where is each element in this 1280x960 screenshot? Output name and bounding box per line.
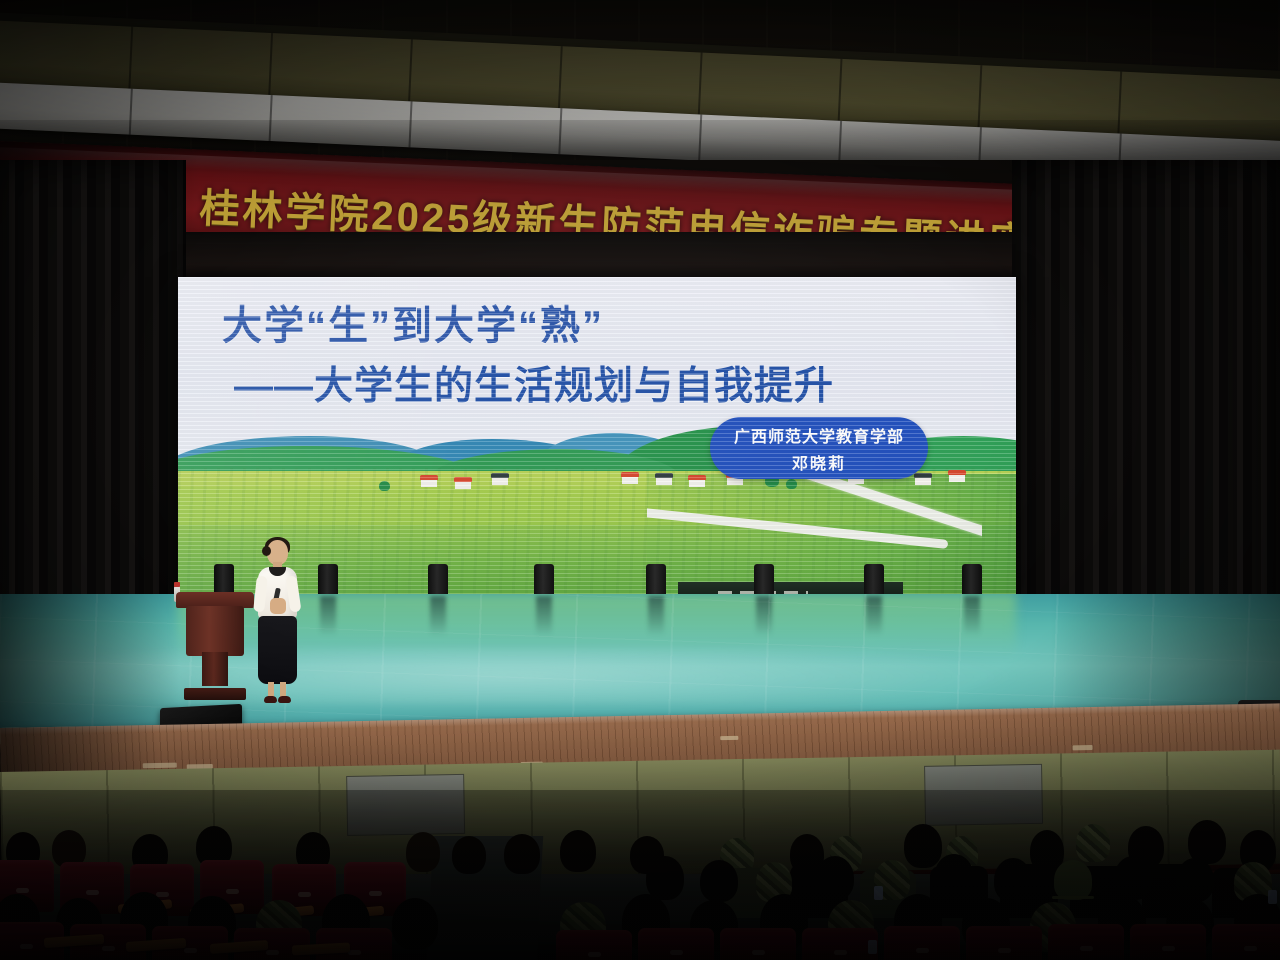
floor-left-shadow	[0, 594, 180, 744]
auditorium-seat[interactable]	[1048, 924, 1124, 960]
slide-subtitle: ——大学生的生活规划与自我提升	[234, 355, 834, 411]
auditorium-seat[interactable]	[1130, 924, 1206, 960]
audience-member	[504, 834, 540, 874]
podium	[182, 592, 248, 700]
audience-area	[0, 790, 1280, 960]
audience-member	[934, 854, 974, 900]
audience-member	[1054, 860, 1092, 900]
water-bottle-cap	[174, 582, 180, 587]
audience-member	[1076, 824, 1110, 862]
audience-member	[700, 860, 738, 902]
audience-member	[816, 856, 854, 900]
audience-member	[646, 856, 684, 900]
speaker-name: 邓晓莉	[792, 450, 846, 474]
audience-member	[406, 832, 440, 872]
auditorium-seat[interactable]	[1212, 924, 1280, 960]
speaker-organization: 广西师范大学教育学部	[734, 423, 904, 447]
auditorium-ceiling	[0, 0, 1280, 160]
auditorium-seat[interactable]	[720, 928, 796, 960]
auditorium-seat[interactable]	[884, 926, 960, 960]
slide-title: 大学“生”到大学“熟”	[222, 293, 604, 351]
audience-member	[904, 824, 942, 868]
led-screen: 大学“生”到大学“熟” ——大学生的生活规划与自我提升 广西师范大学教育学部 邓…	[178, 277, 1016, 595]
auditorium-seat[interactable]	[802, 928, 878, 960]
auditorium-seat[interactable]	[556, 930, 632, 960]
audience-member	[560, 830, 596, 872]
audience-member	[452, 836, 486, 874]
presenter-hair-bun	[262, 546, 271, 556]
presenter	[254, 540, 300, 705]
auditorium-seat[interactable]	[966, 926, 1042, 960]
ceiling-vignette	[0, 0, 1280, 160]
presenter-skirt	[258, 616, 297, 684]
lecture-hall-photo: 桂林学院2025级新生防范电信诈骗专题讲座	[0, 0, 1280, 960]
audience-member	[392, 898, 438, 950]
presenter-hands	[270, 598, 286, 614]
speaker-badge: 广西师范大学教育学部 邓晓莉	[710, 417, 928, 479]
audience-member	[994, 858, 1032, 902]
audience-member	[1176, 858, 1214, 902]
auditorium-seat[interactable]	[638, 928, 714, 960]
